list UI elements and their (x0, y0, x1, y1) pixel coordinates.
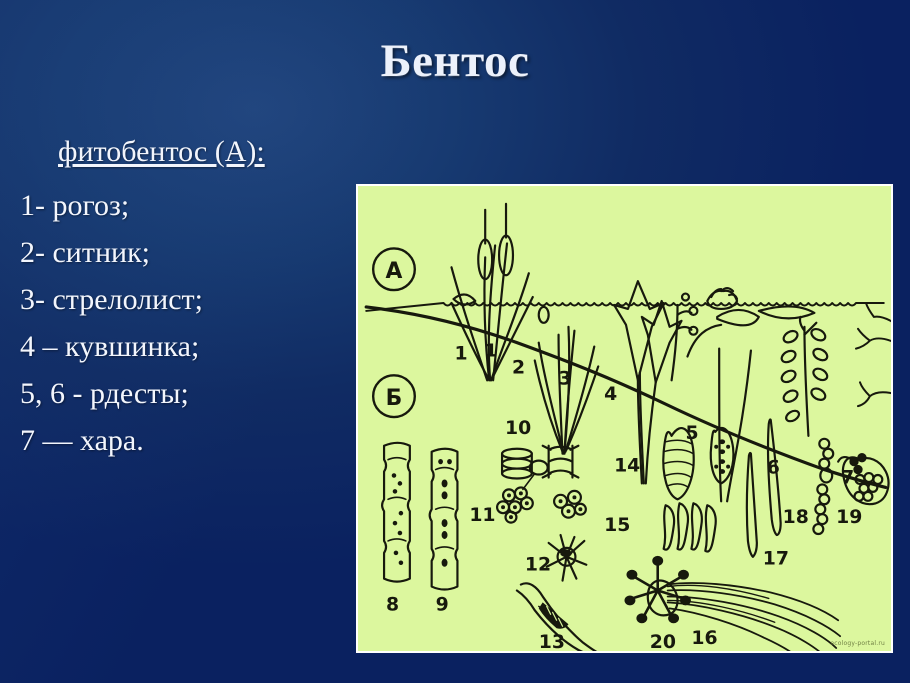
benthos-diagram-image: А (356, 184, 893, 653)
section-label-a: А (386, 259, 403, 284)
figure-number-4: 4 (604, 384, 617, 405)
list-item: 4 – кувшинка; (20, 323, 350, 370)
figure-number-8: 8 (386, 594, 399, 615)
figure-number-1: 1 (454, 344, 467, 365)
list-item: 7 — хара. (20, 417, 350, 464)
page-title: Бентос (0, 34, 910, 88)
figure-number-1: 1 (485, 341, 497, 362)
figure-number-17: 17 (763, 549, 789, 570)
section-heading: фитобентос (А): (58, 135, 265, 169)
figure-number-2: 2 (512, 357, 525, 378)
figure-number-16: 16 (691, 628, 717, 649)
figure-number-11: 11 (469, 505, 495, 526)
list-item: 2- ситник; (20, 229, 350, 276)
figure-number-18: 18 (783, 507, 809, 528)
legend-list: 1- рогоз; 2- ситник; 3- стрелолист; 4 – … (20, 182, 350, 464)
figure-number-13: 13 (539, 632, 565, 651)
figure-number-19: 19 (836, 507, 862, 528)
figure-number-10: 10 (505, 418, 531, 439)
list-item: 3- стрелолист; (20, 276, 350, 323)
list-item: 5, 6 - рдесты; (20, 370, 350, 417)
figure-number-14: 14 (614, 456, 640, 477)
figure-number-3: 3 (559, 368, 572, 389)
figure-number-20: 20 (650, 632, 676, 651)
slide: Бентос фитобентос (А): 1- рогоз; 2- ситн… (0, 0, 910, 683)
list-item: 1- рогоз; (20, 182, 350, 229)
figure-number-12: 12 (525, 555, 551, 576)
section-label-b: Б (386, 386, 403, 411)
figure-number-15: 15 (604, 515, 630, 536)
figure-number-9: 9 (436, 594, 449, 615)
watermark: ecology-portal.ru (830, 640, 885, 647)
